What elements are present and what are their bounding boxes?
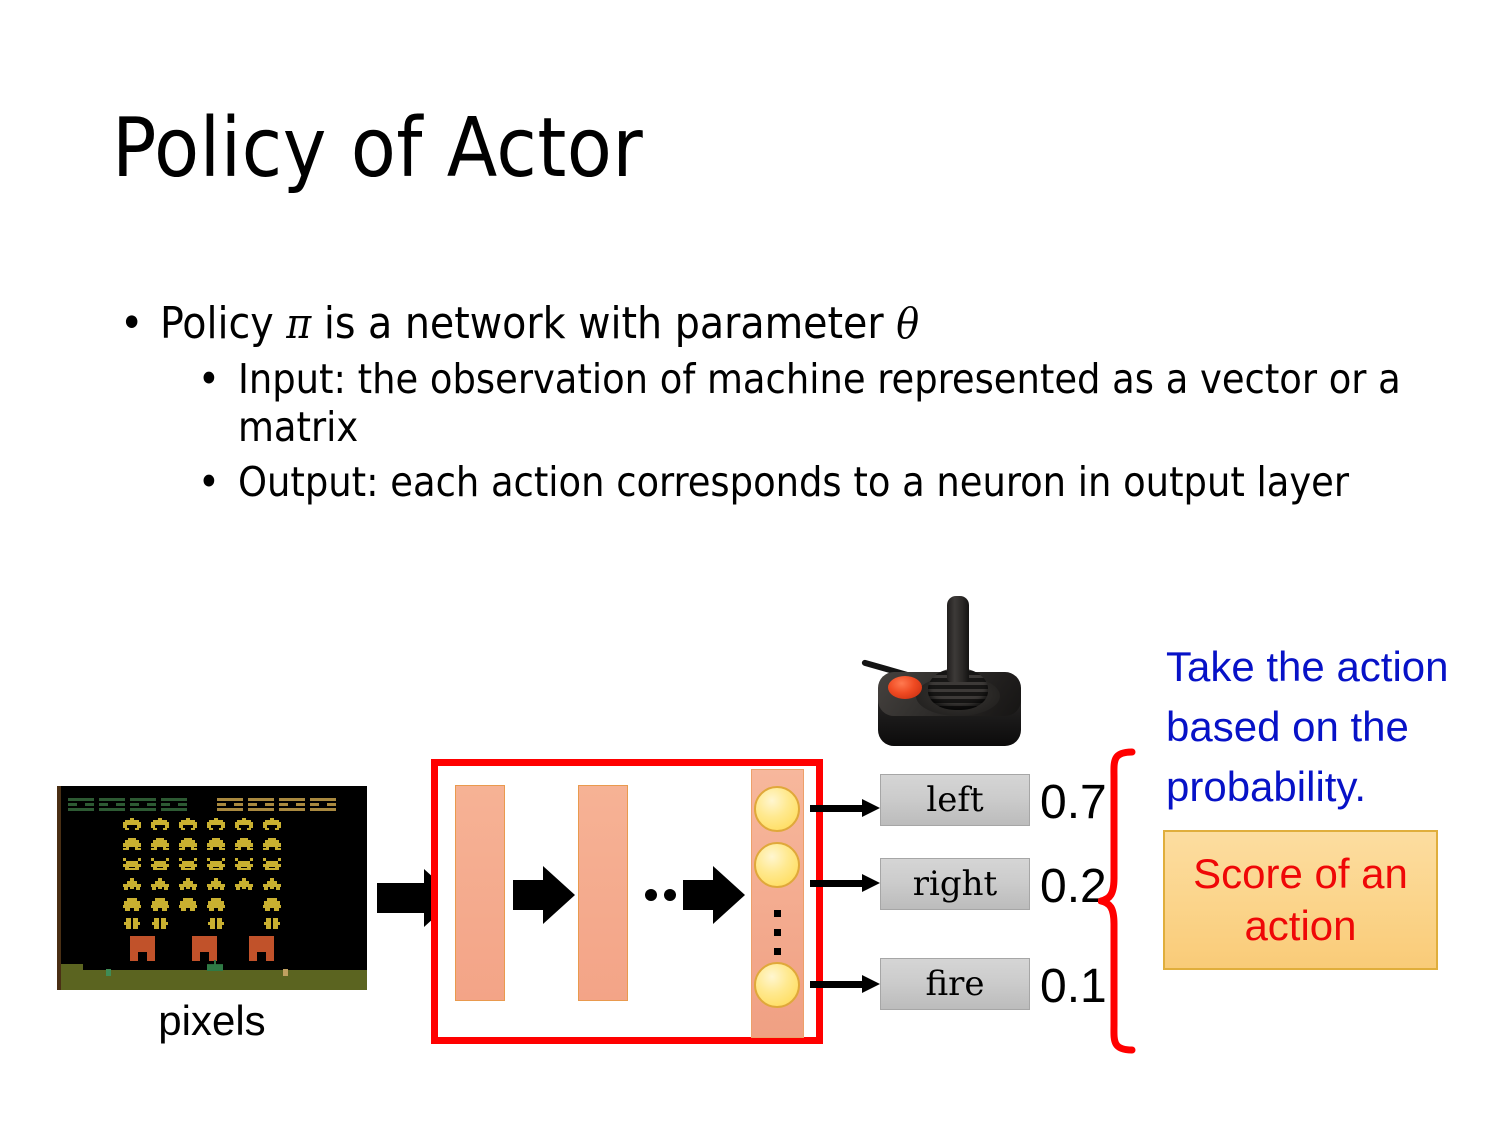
joystick-stick — [947, 596, 969, 682]
score-block-bar — [130, 808, 156, 811]
annotation-take-action: Take the action based on the probability… — [1166, 637, 1486, 817]
arrow-neuron-to-action — [810, 874, 880, 892]
score-block-bar — [99, 808, 125, 811]
score-block-bar — [310, 808, 336, 811]
vertical-ellipsis-dot — [774, 929, 781, 936]
alien-sprite — [263, 858, 281, 871]
alien-sprite — [179, 818, 197, 831]
arrow-neuron-to-action — [810, 799, 880, 817]
score-block-bar — [248, 808, 274, 811]
alien-sprite — [179, 858, 197, 871]
score-block — [161, 798, 187, 811]
alien-sprite — [123, 838, 141, 851]
score-block-gap — [139, 801, 147, 808]
ellipsis-dot — [664, 889, 676, 901]
score-block-gap — [319, 801, 327, 808]
score-block — [130, 798, 156, 811]
score-block-bar — [279, 808, 305, 811]
alien-sprite — [179, 898, 197, 911]
space-invaders-screen-image — [57, 786, 367, 990]
score-block-bar — [217, 808, 243, 811]
arrow-layer1-to-layer2 — [513, 866, 575, 924]
alien-sprite — [151, 878, 169, 891]
alien-sprite — [263, 918, 281, 931]
ground-marker — [106, 969, 111, 976]
arrow-shaft — [810, 880, 864, 887]
score-block-gap — [257, 801, 265, 808]
bunker — [192, 936, 217, 961]
alien-sprite — [235, 818, 253, 831]
score-block — [68, 798, 94, 811]
alien-sprite — [235, 858, 253, 871]
output-neuron — [754, 786, 800, 832]
action-probability-fire: 0.1 — [1040, 961, 1107, 1013]
alien-sprite — [151, 898, 169, 911]
curly-brace-icon — [1098, 748, 1158, 1054]
alien-sprite — [207, 858, 225, 871]
output-neuron — [754, 842, 800, 888]
policy-network-diagram: pixels left 0.7 right 0.2 fire — [0, 0, 1500, 1125]
arrow-neuron-to-action — [810, 975, 880, 993]
alien-sprite — [151, 858, 169, 871]
atari-joystick-image — [856, 588, 1041, 763]
alien-sprite — [263, 818, 281, 831]
alien-sprite — [207, 878, 225, 891]
score-block-gap — [288, 801, 296, 808]
alien-sprite — [179, 838, 197, 851]
alien-sprite — [235, 838, 253, 851]
arrow-to-output-layer — [683, 866, 745, 924]
arrow-shaft — [377, 883, 427, 913]
arrow-head — [862, 975, 880, 993]
alien-sprite — [151, 818, 169, 831]
arrow-shaft — [683, 880, 716, 910]
alien-sprite — [207, 898, 225, 911]
ground-marker — [283, 969, 288, 976]
action-box-fire[interactable]: fire — [880, 958, 1030, 1010]
alien-sprite — [207, 818, 225, 831]
arrow-head — [713, 866, 745, 924]
arrow-head — [862, 874, 880, 892]
score-block-gap — [170, 801, 178, 808]
alien-sprite — [263, 898, 281, 911]
alien-sprite — [123, 878, 141, 891]
action-box-right[interactable]: right — [880, 858, 1030, 910]
joystick-fire-button — [888, 676, 922, 699]
score-block — [248, 798, 274, 811]
score-block-gap — [226, 801, 234, 808]
score-block — [310, 798, 336, 811]
input-label-pixels: pixels — [57, 997, 367, 1045]
score-block — [99, 798, 125, 811]
alien-sprite — [123, 898, 141, 911]
alien-sprite — [179, 878, 197, 891]
score-block-bar — [161, 808, 187, 811]
action-probability-left: 0.7 — [1040, 777, 1107, 829]
action-probability-right: 0.2 — [1040, 861, 1107, 913]
alien-sprite — [207, 918, 225, 931]
bunker — [249, 936, 274, 961]
alien-sprite — [123, 918, 141, 931]
alien-sprite — [151, 918, 169, 931]
ellipsis-dot — [645, 889, 657, 901]
arrow-head — [543, 866, 575, 924]
vertical-ellipsis-dot — [774, 948, 781, 955]
arrow-shaft — [810, 981, 864, 988]
action-box-left[interactable]: left — [880, 774, 1030, 826]
screen-left-border — [57, 786, 61, 990]
score-block-gap — [108, 801, 116, 808]
alien-sprite — [263, 878, 281, 891]
output-neuron — [754, 962, 800, 1008]
score-block — [217, 798, 243, 811]
alien-sprite — [207, 838, 225, 851]
alien-sprite — [123, 818, 141, 831]
player-ship — [207, 960, 223, 971]
score-block-gap — [77, 801, 85, 808]
score-block — [279, 798, 305, 811]
vertical-ellipsis-dot — [774, 910, 781, 917]
alien-sprite — [235, 878, 253, 891]
alien-sprite — [151, 838, 169, 851]
arrow-shaft — [810, 805, 864, 812]
score-block-bar — [68, 808, 94, 811]
alien-sprite — [123, 858, 141, 871]
alien-sprite — [263, 838, 281, 851]
hidden-layer-1 — [455, 785, 505, 1001]
bunker — [130, 936, 155, 961]
annotation-score-of-an-action: Score of an action — [1163, 830, 1438, 970]
arrow-head — [862, 799, 880, 817]
arrow-shaft — [513, 880, 546, 910]
hidden-layer-2 — [578, 785, 628, 1001]
